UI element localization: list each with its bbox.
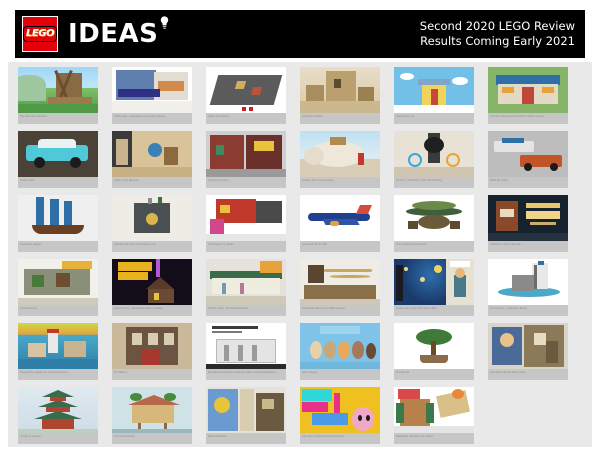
ideas-wordmark: IDEAS — [68, 21, 158, 47]
project-card[interactable]: Bangladesh National Parliament (Jatiyo S… — [206, 323, 286, 380]
project-caption: Rockwest Studios — [300, 113, 380, 124]
project-caption: LEGO HeroQuest — [206, 113, 286, 124]
poster-page: LEGO IDEAS Second 2020 LEGO Review Resul… — [0, 0, 600, 455]
project-card[interactable]: 31 Minutes T.V. Studio — [206, 195, 286, 252]
project-thumbnail[interactable] — [112, 259, 192, 305]
project-thumbnail[interactable] — [394, 259, 474, 305]
project-caption: Southwest B 737-800 — [300, 241, 380, 252]
project-card[interactable]: House From Up — [394, 67, 474, 124]
project-card[interactable]: Good Rock Mine Town Roller Coaster — [300, 259, 380, 316]
project-card[interactable]: LEGO Doggo — [300, 323, 380, 380]
project-card[interactable]: Zen Bonsai — [394, 323, 474, 380]
project-card[interactable]: Fast Food Corner — [206, 131, 286, 188]
project-card[interactable]: Sheriff's Safe with Combination Lock — [112, 195, 192, 252]
project-thumbnail[interactable] — [488, 195, 568, 241]
project-caption: Temple of Heaven — [18, 433, 98, 444]
project-caption: Seasons In Time Calendar — [488, 241, 568, 252]
project-caption: Community - Greendale Community College — [112, 113, 192, 124]
project-card[interactable]: Seagull Bay Lighthouse Imperial Fortress — [18, 323, 98, 380]
project-grid: The Mountain Windmill Community - Greend… — [18, 67, 582, 444]
project-caption: Hoxton: The Lost Automata — [300, 177, 380, 188]
project-thumbnail[interactable] — [394, 131, 474, 177]
project-thumbnail[interactable] — [112, 387, 192, 433]
project-thumbnail[interactable] — [488, 67, 568, 113]
project-caption: Fall Guys: Ultimate Knockout Course — [300, 433, 380, 444]
project-thumbnail[interactable] — [206, 67, 286, 113]
project-card[interactable]: Vincent van Gogh: The Starry Night — [394, 259, 474, 316]
project-card[interactable]: Animal Crossing New Horizons: Nook's Cra… — [488, 67, 568, 124]
header-message-line1: Second 2020 LEGO Review — [420, 19, 575, 34]
project-card[interactable]: LEGO HeroQuest — [206, 67, 286, 124]
project-card[interactable]: Explorationium — [18, 259, 98, 316]
project-thumbnail[interactable] — [206, 259, 286, 305]
project-caption: The Bakery — [112, 369, 192, 380]
project-thumbnail[interactable] — [394, 387, 474, 433]
project-thumbnail[interactable] — [112, 67, 192, 113]
project-caption: BMW M1 (E26) — [488, 177, 568, 188]
project-thumbnail[interactable] — [394, 195, 474, 241]
project-thumbnail[interactable] — [300, 131, 380, 177]
header-message: Second 2020 LEGO Review Results Coming E… — [420, 19, 575, 49]
project-card[interactable]: Schitt's Creek: The Rosebud Motel — [206, 259, 286, 316]
project-thumbnail[interactable] — [18, 195, 98, 241]
project-caption: Ratatouille: Recipes The Crowd — [394, 433, 474, 444]
project-caption: Fast Food Corner — [206, 177, 286, 188]
project-card[interactable]: Trabant 601 — [18, 131, 98, 188]
project-card[interactable]: Medieval Market — [206, 387, 286, 444]
project-thumbnail[interactable] — [488, 323, 568, 369]
project-thumbnail[interactable] — [206, 387, 286, 433]
project-thumbnail[interactable] — [394, 323, 474, 369]
project-thumbnail[interactable] — [112, 195, 192, 241]
project-thumbnail[interactable] — [394, 67, 474, 113]
project-thumbnail[interactable] — [18, 131, 98, 177]
project-caption: Explorationium — [18, 305, 98, 316]
project-card[interactable]: Night At The Museum — [112, 131, 192, 188]
header-bar: LEGO IDEAS Second 2020 LEGO Review Resul… — [15, 10, 585, 58]
project-thumbnail[interactable] — [300, 323, 380, 369]
ideas-wordmark-text: IDEAS — [68, 19, 158, 49]
project-caption: Trabant 601 — [18, 177, 98, 188]
project-card[interactable]: Temple of Heaven — [18, 387, 98, 444]
project-thumbnail[interactable] — [206, 131, 286, 177]
project-thumbnail[interactable] — [206, 323, 286, 369]
project-card[interactable]: Tony Pratchett's Discworld — [394, 195, 474, 252]
project-card[interactable]: Fall Guys: Ultimate Knockout Course — [300, 387, 380, 444]
project-card[interactable]: Seasons In Time Calendar — [488, 195, 568, 252]
project-thumbnail[interactable] — [112, 131, 192, 177]
project-thumbnail[interactable] — [18, 387, 98, 433]
project-caption: Animal Crossing New Horizons: Nook's Cra… — [488, 113, 568, 124]
project-caption: LEGO Doggo — [300, 369, 380, 380]
project-thumbnail[interactable] — [206, 195, 286, 241]
lightbulb-icon — [160, 16, 169, 29]
project-card[interactable]: The Green House — [112, 387, 192, 444]
project-card[interactable]: Southwest B 737-800 — [300, 195, 380, 252]
project-caption: Zen Bonsai — [394, 369, 474, 380]
lego-logo-text: LEGO — [23, 26, 57, 42]
project-card[interactable]: The Mountain Windmill — [18, 67, 98, 124]
project-thumbnail[interactable] — [300, 195, 380, 241]
project-caption: Good Rock Mine Town Roller Coaster — [300, 305, 380, 316]
project-card[interactable]: Ratatouille: Recipes The Crowd — [394, 387, 474, 444]
project-caption: Seagull Bay Lighthouse Imperial Fortress — [18, 369, 98, 380]
project-caption: Sheriff's Safe with Combination Lock — [112, 241, 192, 252]
project-card[interactable]: Hocus Pocus - Sanderson Sisters' Cottage — [112, 259, 192, 316]
project-caption: Portal 2 - GLaDOS in Cell and Shooting — [394, 177, 474, 188]
project-thumbnail[interactable] — [112, 323, 192, 369]
project-thumbnail[interactable] — [18, 323, 98, 369]
project-card[interactable]: BMW M1 (E26) — [488, 131, 568, 188]
project-caption: Hocus Pocus - Sanderson Sisters' Cottage — [112, 305, 192, 316]
content-area: The Mountain Windmill Community - Greend… — [8, 62, 592, 447]
project-card[interactable]: The Bakery — [112, 323, 192, 380]
project-thumbnail[interactable] — [18, 259, 98, 305]
project-caption: Schitt's Creek: The Rosebud Motel — [206, 305, 286, 316]
project-caption: The Green House — [112, 433, 192, 444]
project-caption: The Mountain Windmill — [18, 113, 98, 124]
project-caption: House From Up — [394, 113, 474, 124]
project-card[interactable]: Hoxton: The Lost Automata — [300, 131, 380, 188]
project-thumbnail[interactable] — [488, 259, 568, 305]
project-caption: Bangladesh National Parliament (Jatiyo S… — [206, 369, 286, 380]
project-thumbnail[interactable] — [300, 259, 380, 305]
project-card[interactable]: Caribbean Clipper — [18, 195, 98, 252]
header-message-line2: Results Coming Early 2021 — [420, 34, 575, 49]
project-caption: Medieval Market — [206, 433, 286, 444]
lego-logo: LEGO — [22, 16, 58, 52]
project-card[interactable]: Rockwest Studios — [300, 67, 380, 124]
project-card[interactable]: Community - Greendale Community College — [112, 67, 192, 124]
project-card[interactable]: Rivendell: Elrond's Elven Shop — [488, 323, 568, 380]
project-caption: Caribbean Clipper — [18, 241, 98, 252]
project-caption: The Fortress - Shipwreck Rising — [488, 305, 568, 316]
brand-lockup: LEGO IDEAS — [22, 16, 158, 52]
project-card[interactable]: The Fortress - Shipwreck Rising — [488, 259, 568, 316]
project-thumbnail[interactable] — [300, 387, 380, 433]
project-card[interactable]: Portal 2 - GLaDOS in Cell and Shooting — [394, 131, 474, 188]
project-caption: Vincent van Gogh: The Starry Night — [394, 305, 474, 316]
project-thumbnail[interactable] — [300, 67, 380, 113]
project-caption: Tony Pratchett's Discworld — [394, 241, 474, 252]
project-caption: Night At The Museum — [112, 177, 192, 188]
project-thumbnail[interactable] — [18, 67, 98, 113]
project-thumbnail[interactable] — [488, 131, 568, 177]
project-caption: 31 Minutes T.V. Studio — [206, 241, 286, 252]
project-caption: Rivendell: Elrond's Elven Shop — [488, 369, 568, 380]
